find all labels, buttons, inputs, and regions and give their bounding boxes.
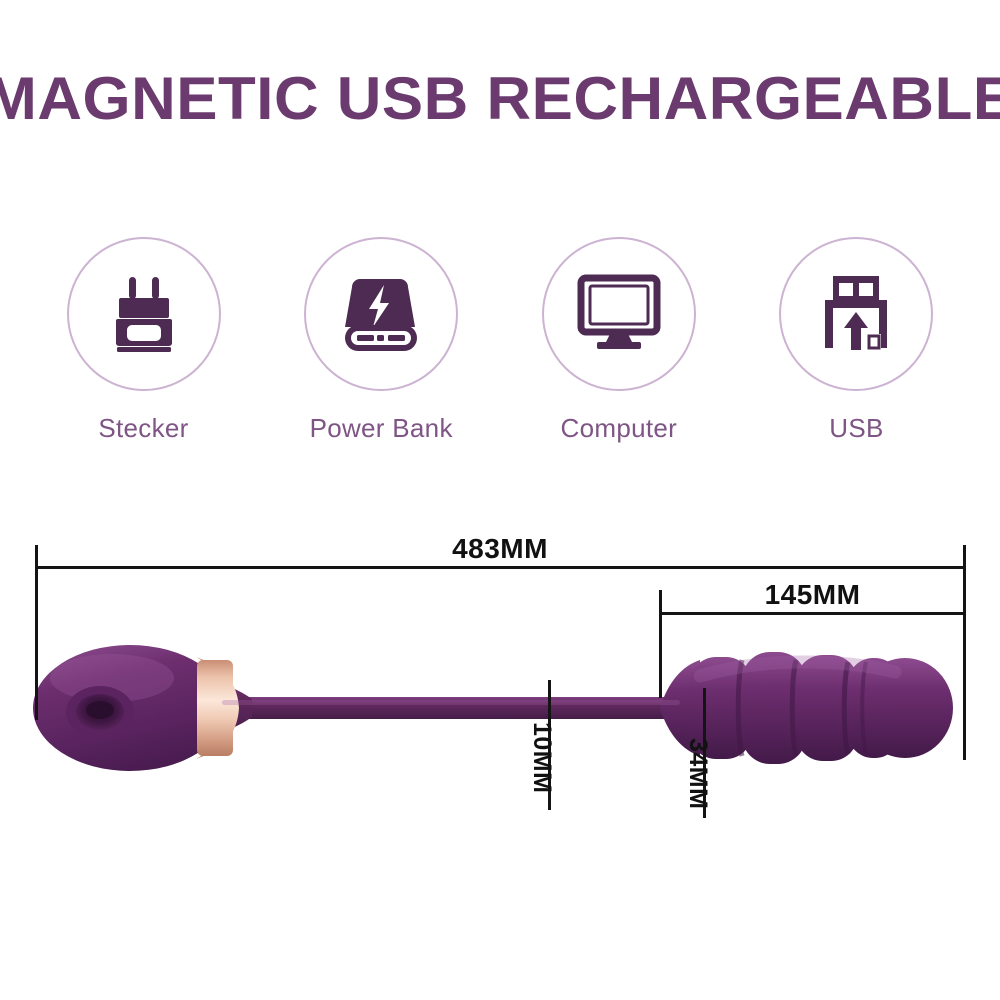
wall-plug-icon xyxy=(101,269,187,360)
charging-methods-row: Stecker xyxy=(25,237,975,452)
feature-label-computer: Computer xyxy=(561,413,678,444)
rose-gold-ring xyxy=(196,657,239,759)
suction-opening-outer xyxy=(66,686,134,738)
ribbed-shaft-tip xyxy=(690,652,953,764)
feature-label-power-bank: Power Bank xyxy=(310,413,453,444)
dimension-tick-total-left xyxy=(35,545,38,720)
dimension-line-total-length xyxy=(35,566,966,569)
suction-opening-core xyxy=(86,701,114,719)
dimension-tick-total-right xyxy=(963,545,966,760)
feature-label-usb: USB xyxy=(829,413,883,444)
dimension-label-insertable-length: 145MM xyxy=(659,579,966,611)
suction-opening-inner xyxy=(76,694,124,730)
dimension-label-shaft-diameter: 10MM xyxy=(527,722,556,793)
feature-circle-computer xyxy=(542,237,696,391)
suction-egg-head xyxy=(33,645,227,771)
feature-circle-power-bank xyxy=(304,237,458,391)
dimension-label-head-diameter: 34MM xyxy=(683,738,712,809)
feature-item-usb: USB xyxy=(738,237,975,444)
dimension-label-total-length: 483MM xyxy=(0,533,1000,565)
computer-monitor-icon xyxy=(573,270,665,359)
page-title: MAGNETIC USB RECHARGEABLE xyxy=(0,62,1000,136)
product-dimension-diagram: 483MM 145MM 10MM 34MM xyxy=(0,500,1000,920)
shaft-neck xyxy=(205,678,252,738)
rose-gold-ring-band xyxy=(197,660,233,756)
feature-item-computer: Computer xyxy=(500,237,737,444)
power-bank-icon xyxy=(336,269,426,360)
dimension-line-insertable-length xyxy=(659,612,966,615)
flexible-shaft xyxy=(215,697,685,719)
feature-item-power-bank: Power Bank xyxy=(263,237,500,444)
feature-item-stecker: Stecker xyxy=(25,237,262,444)
feature-label-stecker: Stecker xyxy=(98,413,188,444)
feature-circle-usb xyxy=(779,237,933,391)
shaft-highlight xyxy=(222,700,680,705)
usb-connector-icon xyxy=(814,270,898,359)
feature-circle-stecker xyxy=(67,237,221,391)
egg-highlight xyxy=(50,654,174,702)
